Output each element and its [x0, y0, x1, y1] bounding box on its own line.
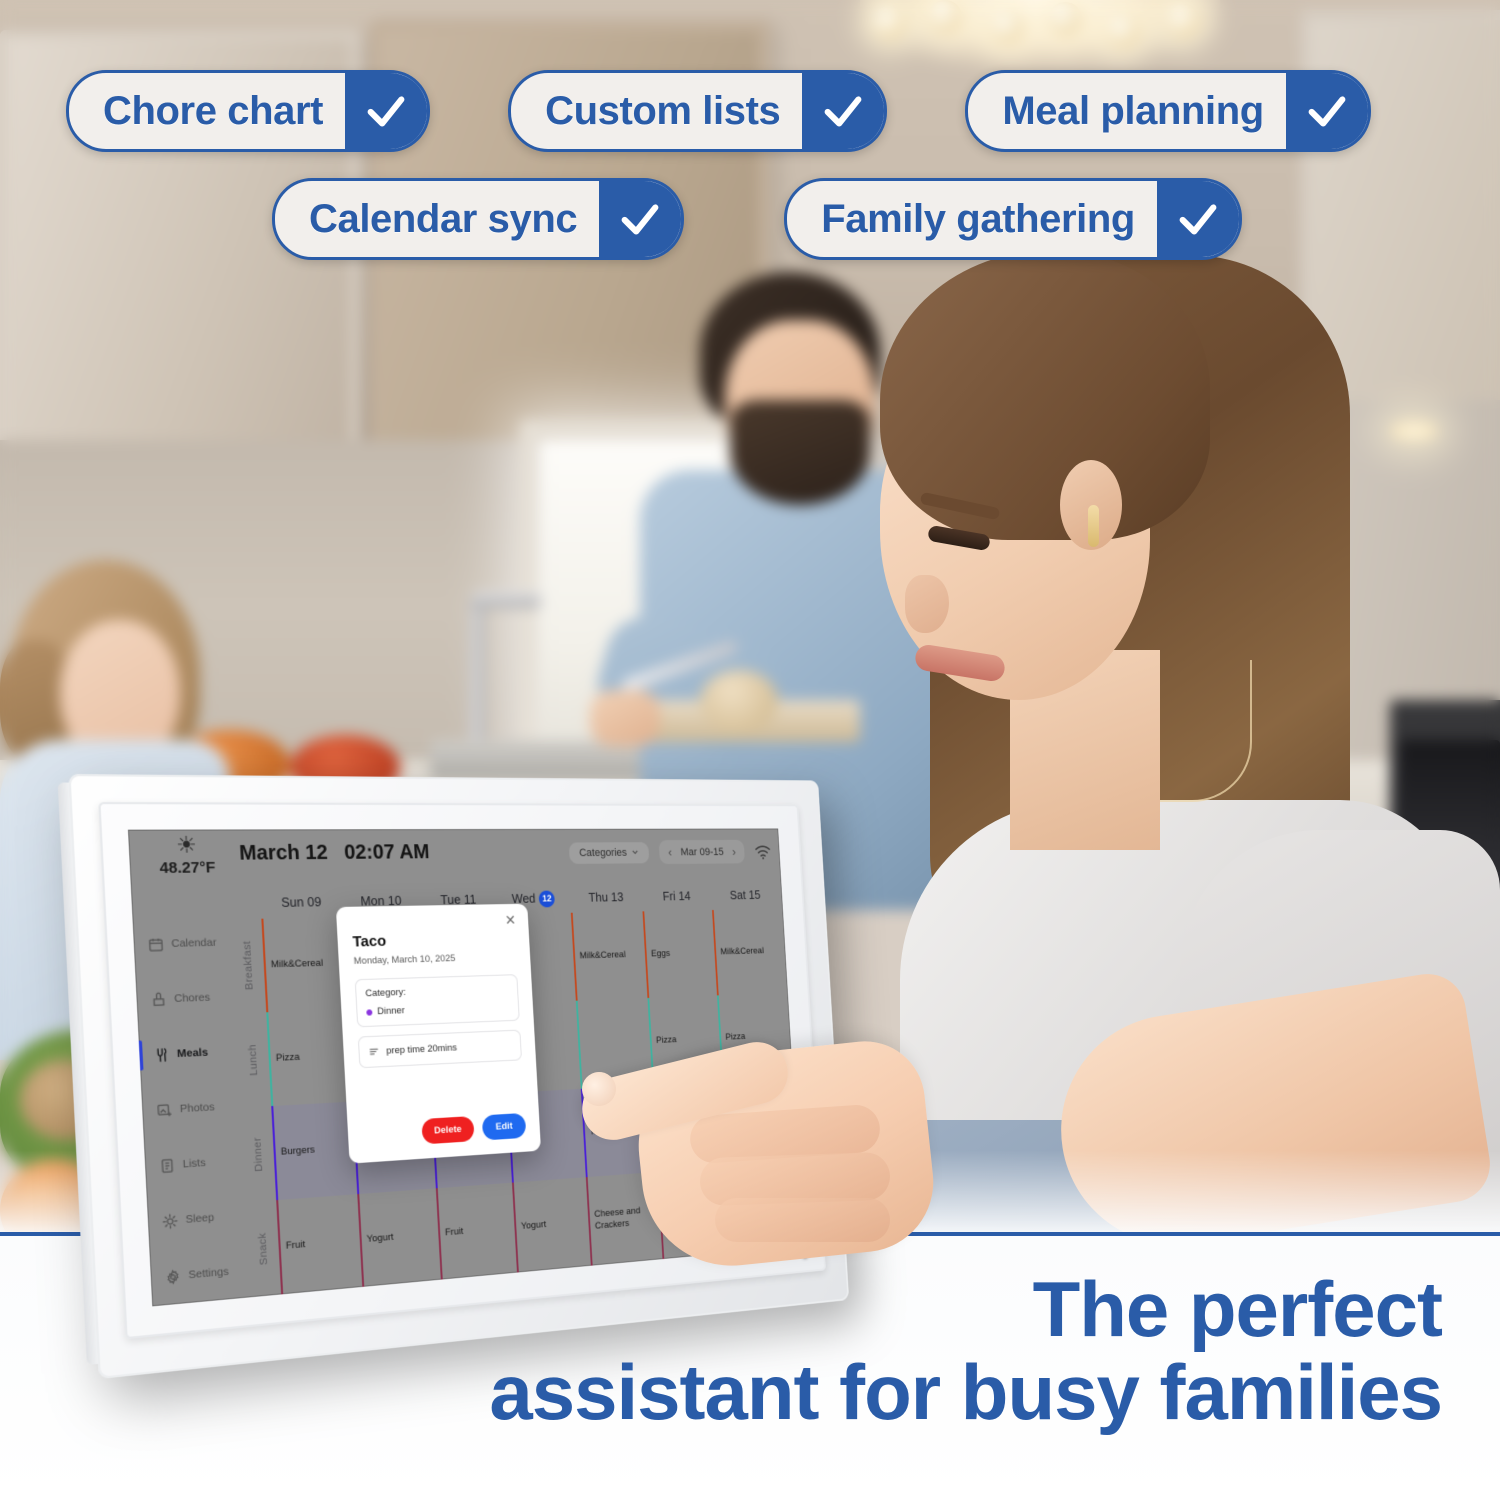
wifi-icon: [754, 844, 772, 859]
edit-button[interactable]: Edit: [482, 1113, 527, 1141]
meal-cell[interactable]: Taco: [581, 1085, 658, 1177]
modal-date: Monday, March 10, 2025: [353, 951, 516, 967]
sidebar-label: Meals: [177, 1046, 209, 1060]
feature-pill-group: Chore chart Custom lists Meal planning: [0, 70, 1500, 260]
row-label: Snack: [245, 1200, 281, 1297]
check-icon: [599, 181, 681, 257]
pill-label: Chore chart: [69, 73, 345, 149]
headline-line-2: assistant for busy families: [489, 1351, 1442, 1434]
meal-cell[interactable]: [652, 1081, 727, 1172]
device-screen: ☀ 48.27°F March 12 02:07 AM Categories: [128, 829, 803, 1307]
meal-cell[interactable]: Milk&Cereal: [571, 911, 648, 1000]
meal-cell[interactable]: [576, 998, 653, 1089]
feature-pill-family-gathering[interactable]: Family gathering: [784, 178, 1242, 260]
meal-cell[interactable]: Fruit: [436, 1183, 517, 1280]
day-label: Fri 14: [662, 890, 691, 904]
check-icon: [345, 73, 427, 149]
utensils-icon: [153, 1046, 170, 1063]
weather-widget[interactable]: ☀ 48.27°F: [141, 834, 232, 878]
day-label: Thu 13: [588, 890, 624, 904]
pill-label: Family gathering: [787, 181, 1157, 257]
row-label: Breakfast: [230, 919, 266, 1014]
chevron-down-icon: [631, 848, 639, 857]
meal-cell[interactable]: Yogurt: [727, 1162, 800, 1253]
row-label: Lunch: [235, 1012, 271, 1108]
category-label: Category:: [365, 983, 509, 999]
gear-icon: [164, 1268, 181, 1285]
sidebar-item-settings[interactable]: Settings: [149, 1242, 250, 1306]
chevron-left-icon[interactable]: ‹: [668, 845, 673, 859]
meal-cell[interactable]: Eggs: [642, 910, 717, 998]
feature-pill-calendar-sync[interactable]: Calendar sync: [272, 178, 684, 260]
smart-display-device: ☀ 48.27°F March 12 02:07 AM Categories: [92, 776, 882, 1336]
category-value: Dinner: [377, 1005, 405, 1017]
category-box: Category: Dinner: [355, 974, 520, 1027]
week-range-label: Mar 09-15: [680, 846, 724, 858]
sidebar-item-sleep[interactable]: Sleep: [147, 1188, 248, 1251]
sidebar-item-lists[interactable]: Lists: [144, 1133, 245, 1195]
brightness-icon: [162, 1212, 179, 1229]
temperature-value: 48.27°F: [142, 859, 232, 878]
sidebar-label: Sleep: [185, 1211, 214, 1226]
day-header[interactable]: Sat 15: [710, 881, 779, 910]
feature-pill-meal-planning[interactable]: Meal planning: [965, 70, 1370, 152]
meal-cell[interactable]: Yogurt: [357, 1188, 441, 1287]
delete-button[interactable]: Delete: [421, 1116, 475, 1145]
sidebar-item-calendar[interactable]: Calendar: [132, 915, 232, 972]
day-label: Sun 09: [281, 895, 322, 910]
date-time-display: March 12 02:07 AM: [239, 841, 430, 866]
sidebar-label: Lists: [182, 1156, 206, 1170]
meal-detail-modal: ✕ Taco Monday, March 10, 2025 Category: …: [336, 904, 541, 1164]
chores-icon: [150, 991, 167, 1007]
week-navigator[interactable]: ‹ Mar 09-15 ›: [659, 840, 745, 864]
photo-add-icon: [156, 1102, 173, 1119]
pill-label: Calendar sync: [275, 181, 599, 257]
meal-cell[interactable]: Pizza: [266, 1009, 352, 1106]
check-icon: [1157, 181, 1239, 257]
feature-pill-custom-lists[interactable]: Custom lists: [508, 70, 887, 152]
list-clipboard-icon: [159, 1157, 176, 1174]
meal-cell[interactable]: Pizza: [647, 995, 722, 1084]
day-header[interactable]: Fri 14: [641, 882, 712, 912]
pill-label: Custom lists: [511, 73, 802, 149]
meal-cell[interactable]: Fruit: [657, 1167, 732, 1259]
meal-cell[interactable]: Burgers: [271, 1102, 357, 1201]
day-label: Sat 15: [730, 888, 761, 902]
day-header[interactable]: Thu 13: [569, 883, 642, 913]
current-date: March 12: [239, 842, 329, 865]
app-topbar: ☀ 48.27°F March 12 02:07 AM Categories: [128, 829, 781, 890]
sidebar-item-photos[interactable]: Photos: [141, 1078, 242, 1139]
categories-dropdown[interactable]: Categories: [569, 842, 650, 864]
sidebar-item-meals[interactable]: Meals: [138, 1024, 239, 1083]
sidebar-item-chores[interactable]: Chores: [135, 969, 236, 1027]
modal-title: Taco: [352, 930, 515, 951]
sidebar-label: Chores: [174, 991, 211, 1005]
categories-label: Categories: [579, 847, 627, 859]
headline-line-1: The perfect: [1033, 1265, 1442, 1353]
meal-cell[interactable]: Milk&Cereal: [712, 909, 785, 996]
category-color-dot: [366, 1009, 372, 1015]
meal-cell[interactable]: Milk&Cereal: [261, 917, 347, 1012]
marketing-headline: The perfect assistant for busy families: [489, 1268, 1442, 1435]
today-badge: 12: [539, 890, 556, 907]
meal-cell[interactable]: Cheese and Crackers: [586, 1172, 663, 1266]
sidebar-label: Photos: [180, 1101, 215, 1116]
prep-time-box: prep time 20mins: [358, 1030, 522, 1069]
marketing-image: ☀ 48.27°F March 12 02:07 AM Categories: [0, 0, 1500, 1500]
meal-cell[interactable]: Yogurt: [512, 1177, 591, 1272]
feature-pill-chore-chart[interactable]: Chore chart: [66, 70, 430, 152]
chevron-right-icon[interactable]: ›: [732, 845, 737, 859]
pill-label: Meal planning: [968, 73, 1285, 149]
day-header[interactable]: Sun 09: [260, 886, 343, 918]
check-icon: [802, 73, 884, 149]
prep-time-value: prep time 20mins: [386, 1042, 457, 1056]
meal-cell[interactable]: [722, 1077, 795, 1167]
notes-icon: [368, 1046, 379, 1058]
check-icon: [1286, 73, 1368, 149]
meal-cell[interactable]: Pizza: [717, 993, 790, 1081]
sidebar-label: Calendar: [171, 936, 217, 950]
sun-icon: ☀: [141, 834, 231, 858]
calendar-icon: [147, 936, 164, 952]
close-icon[interactable]: ✕: [503, 912, 519, 928]
sidebar-label: Settings: [188, 1265, 229, 1281]
current-time: 02:07 AM: [344, 841, 430, 864]
row-label: Dinner: [240, 1106, 276, 1202]
meal-cell[interactable]: Fruit: [276, 1194, 362, 1294]
